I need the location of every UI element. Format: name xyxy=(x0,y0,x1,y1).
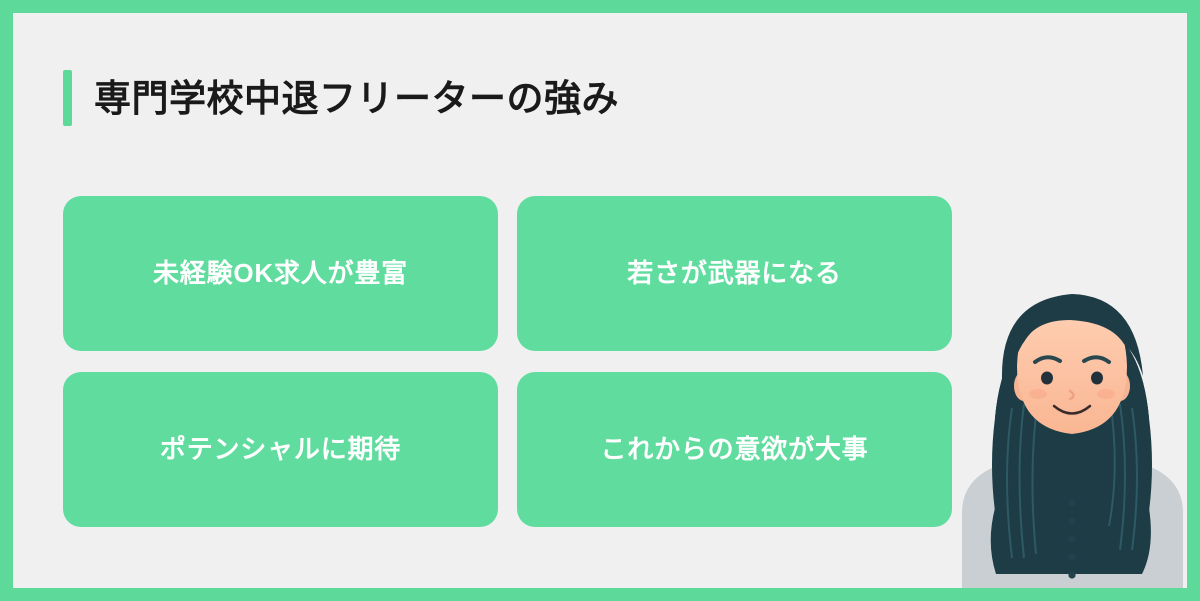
strength-card-3[interactable]: ポテンシャルに期待 xyxy=(63,372,498,527)
page-canvas: 専門学校中退フリーターの強み 未経験OK求人が豊富 若さが武器になる ポテンシャ… xyxy=(13,13,1187,588)
strength-card-2[interactable]: 若さが武器になる xyxy=(517,196,952,351)
page-title: 専門学校中退フリーターの強み xyxy=(63,70,619,126)
page-frame: 専門学校中退フリーターの強み 未経験OK求人が豊富 若さが武器になる ポテンシャ… xyxy=(0,0,1200,601)
strength-card-2-label: 若さが武器になる xyxy=(627,258,841,289)
page-title-text: 専門学校中退フリーターの強み xyxy=(94,80,619,117)
strength-card-1[interactable]: 未経験OK求人が豊富 xyxy=(63,196,498,351)
blush-left xyxy=(1029,389,1047,399)
strength-card-1-label: 未経験OK求人が豊富 xyxy=(153,258,408,289)
strength-card-4-label: これからの意欲が大事 xyxy=(600,434,868,465)
eye-right xyxy=(1091,372,1103,385)
title-accent-bar xyxy=(63,70,72,126)
blush-right xyxy=(1097,389,1115,399)
smiling-woman-illustration xyxy=(950,258,1187,588)
strengths-card-grid: 未経験OK求人が豊富 若さが武器になる ポテンシャルに期待 これからの意欲が大事 xyxy=(63,196,952,527)
strength-card-4[interactable]: これからの意欲が大事 xyxy=(517,372,952,527)
eye-left xyxy=(1041,372,1053,385)
strength-card-3-label: ポテンシャルに期待 xyxy=(160,434,401,465)
